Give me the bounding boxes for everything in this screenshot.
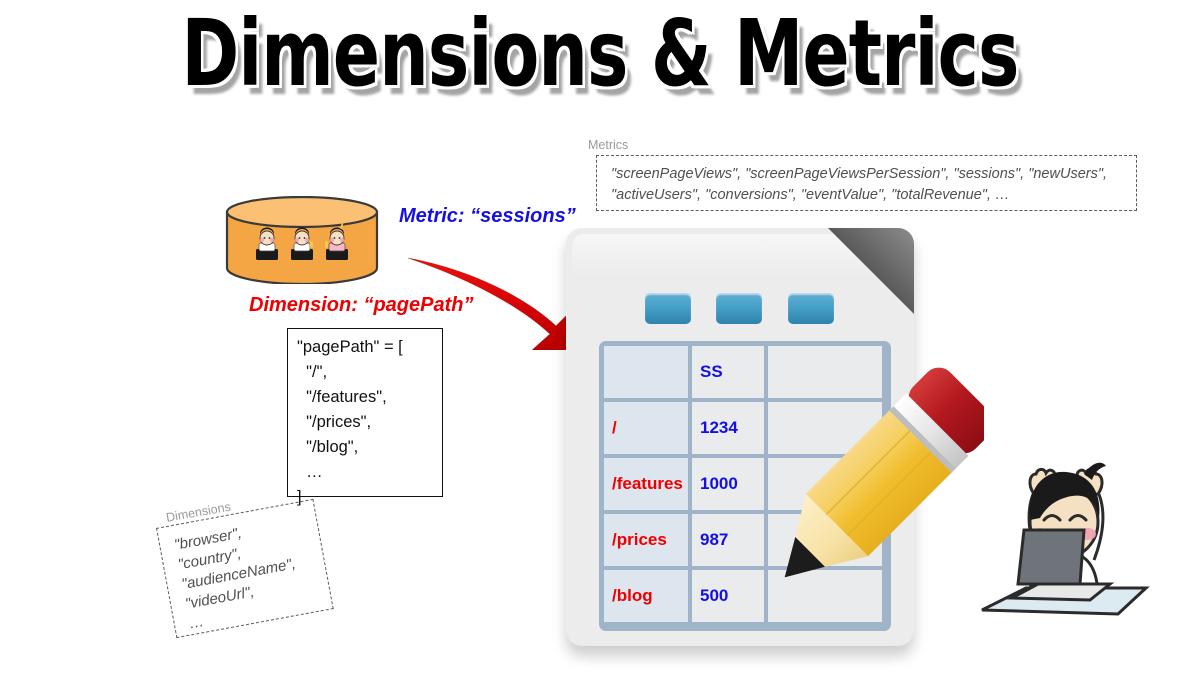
table-cell-dimension[interactable]: /features: [604, 458, 688, 510]
table-cell-dimension[interactable]: /: [604, 402, 688, 454]
code-line: …: [297, 460, 442, 485]
poster-canvas: Dimensions & Metrics: [0, 0, 1200, 675]
pagepath-code-box: "pagePath" = [ "/", "/features", "/price…: [287, 328, 443, 497]
code-line: "/blog",: [297, 435, 442, 460]
table-cell-metric[interactable]: 1234: [692, 402, 764, 454]
code-line: "/features",: [297, 385, 442, 410]
database-cylinder-icon: [224, 196, 380, 284]
table-cell-metric[interactable]: 1000: [692, 458, 764, 510]
code-line: "pagePath" = [: [297, 335, 442, 360]
sheet-tab-3[interactable]: [788, 293, 834, 324]
table-cell-metric[interactable]: 500: [692, 570, 764, 622]
person-at-laptop-icon: [968, 448, 1160, 626]
table-cell-dimension[interactable]: [604, 346, 688, 398]
metrics-list-box: "screenPageViews", "screenPageViewsPerSe…: [596, 155, 1137, 211]
metric-callout-label: Metric: “sessions”: [399, 205, 576, 228]
table-cell-dimension[interactable]: /blog: [604, 570, 688, 622]
pencil-icon: [772, 366, 984, 602]
code-line: ]: [297, 485, 442, 510]
code-line: "/",: [297, 360, 442, 385]
table-cell-metric[interactable]: 987: [692, 514, 764, 566]
page-title: Dimensions & Metrics: [96, 6, 1104, 102]
metrics-line: "screenPageViews", "screenPageViewsPerSe…: [611, 164, 1126, 185]
sheet-tab-2[interactable]: [716, 293, 762, 324]
metrics-caption: Metrics: [588, 138, 628, 152]
table-cell-metric[interactable]: SS: [692, 346, 764, 398]
code-line: "/prices",: [297, 410, 442, 435]
table-cell-dimension[interactable]: /prices: [604, 514, 688, 566]
metrics-line: "activeUsers", "conversions", "eventValu…: [611, 185, 1126, 206]
sheet-tab-1[interactable]: [645, 293, 691, 324]
